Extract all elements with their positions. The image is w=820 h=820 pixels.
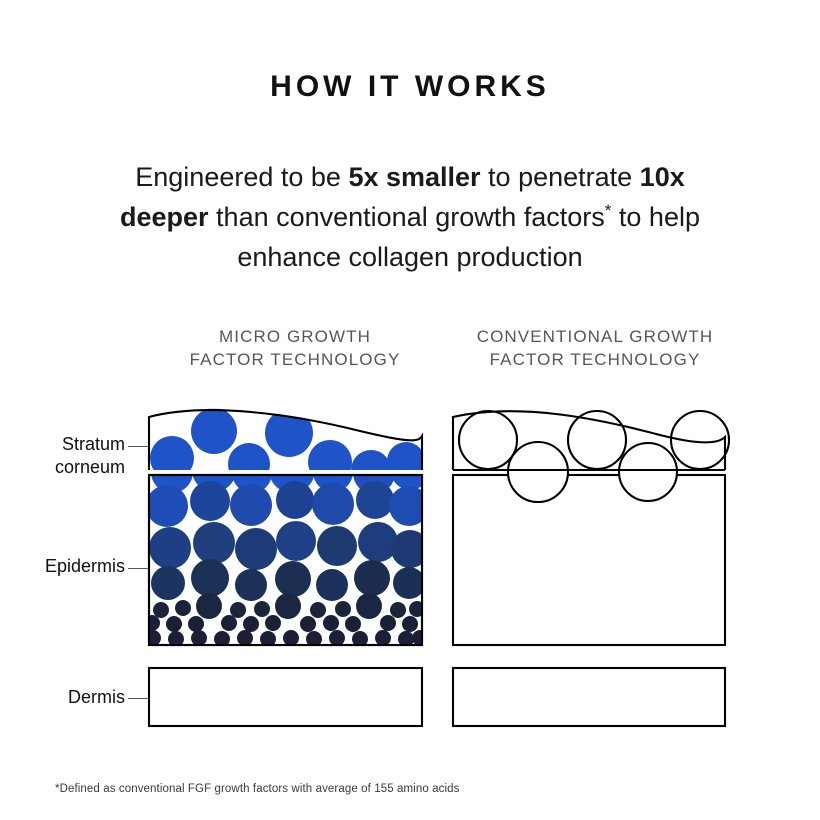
- particle: [316, 569, 348, 601]
- particle: [358, 522, 398, 562]
- particle: [235, 528, 277, 570]
- particle: [230, 602, 246, 618]
- particle: [323, 615, 339, 631]
- particle: [335, 601, 351, 617]
- particle: [345, 616, 361, 632]
- particle: [221, 615, 237, 631]
- particle: [190, 481, 230, 521]
- particle: [243, 616, 259, 632]
- skin-penetration-diagram: [0, 0, 820, 820]
- particle: [175, 600, 191, 616]
- conventional-epidermis-box: [453, 475, 725, 645]
- particle: [356, 481, 394, 519]
- particle: [146, 485, 188, 527]
- footnote-text: *Defined as conventional FGF growth fact…: [55, 783, 459, 795]
- particle: [275, 593, 301, 619]
- particle: [412, 630, 428, 646]
- particle: [310, 602, 326, 618]
- conventional-dermis-box: [453, 668, 725, 726]
- particle: [329, 630, 345, 646]
- particle-outline: [459, 411, 517, 469]
- particle: [191, 630, 207, 646]
- particle: [188, 616, 204, 632]
- particle: [265, 615, 281, 631]
- particle: [150, 436, 194, 480]
- particle: [402, 616, 418, 632]
- particle: [375, 630, 391, 646]
- panel-micro: [144, 408, 429, 726]
- particle: [191, 408, 237, 454]
- particle: [276, 521, 316, 561]
- panel-conventional: [453, 411, 729, 726]
- particle: [153, 602, 169, 618]
- particle: [235, 569, 267, 601]
- particle: [144, 615, 160, 631]
- particle: [166, 616, 182, 632]
- particle: [380, 615, 396, 631]
- particle: [393, 567, 425, 599]
- particle: [145, 630, 161, 646]
- particle: [390, 602, 406, 618]
- particle: [254, 601, 270, 617]
- particle: [354, 560, 390, 596]
- particle: [193, 522, 235, 564]
- particle: [151, 566, 185, 600]
- particle: [196, 593, 222, 619]
- particle-outline: [508, 442, 568, 502]
- particle: [230, 484, 272, 526]
- particle: [237, 630, 253, 646]
- particle: [300, 616, 316, 632]
- particle-outline: [619, 443, 677, 501]
- particle: [149, 527, 191, 569]
- particle: [276, 481, 314, 519]
- particle: [191, 559, 229, 597]
- particle: [391, 530, 429, 568]
- particle: [312, 483, 354, 525]
- micro-dermis-box: [149, 668, 422, 726]
- particle: [283, 630, 299, 646]
- particle: [317, 526, 357, 566]
- particle: [275, 561, 311, 597]
- particle: [356, 593, 382, 619]
